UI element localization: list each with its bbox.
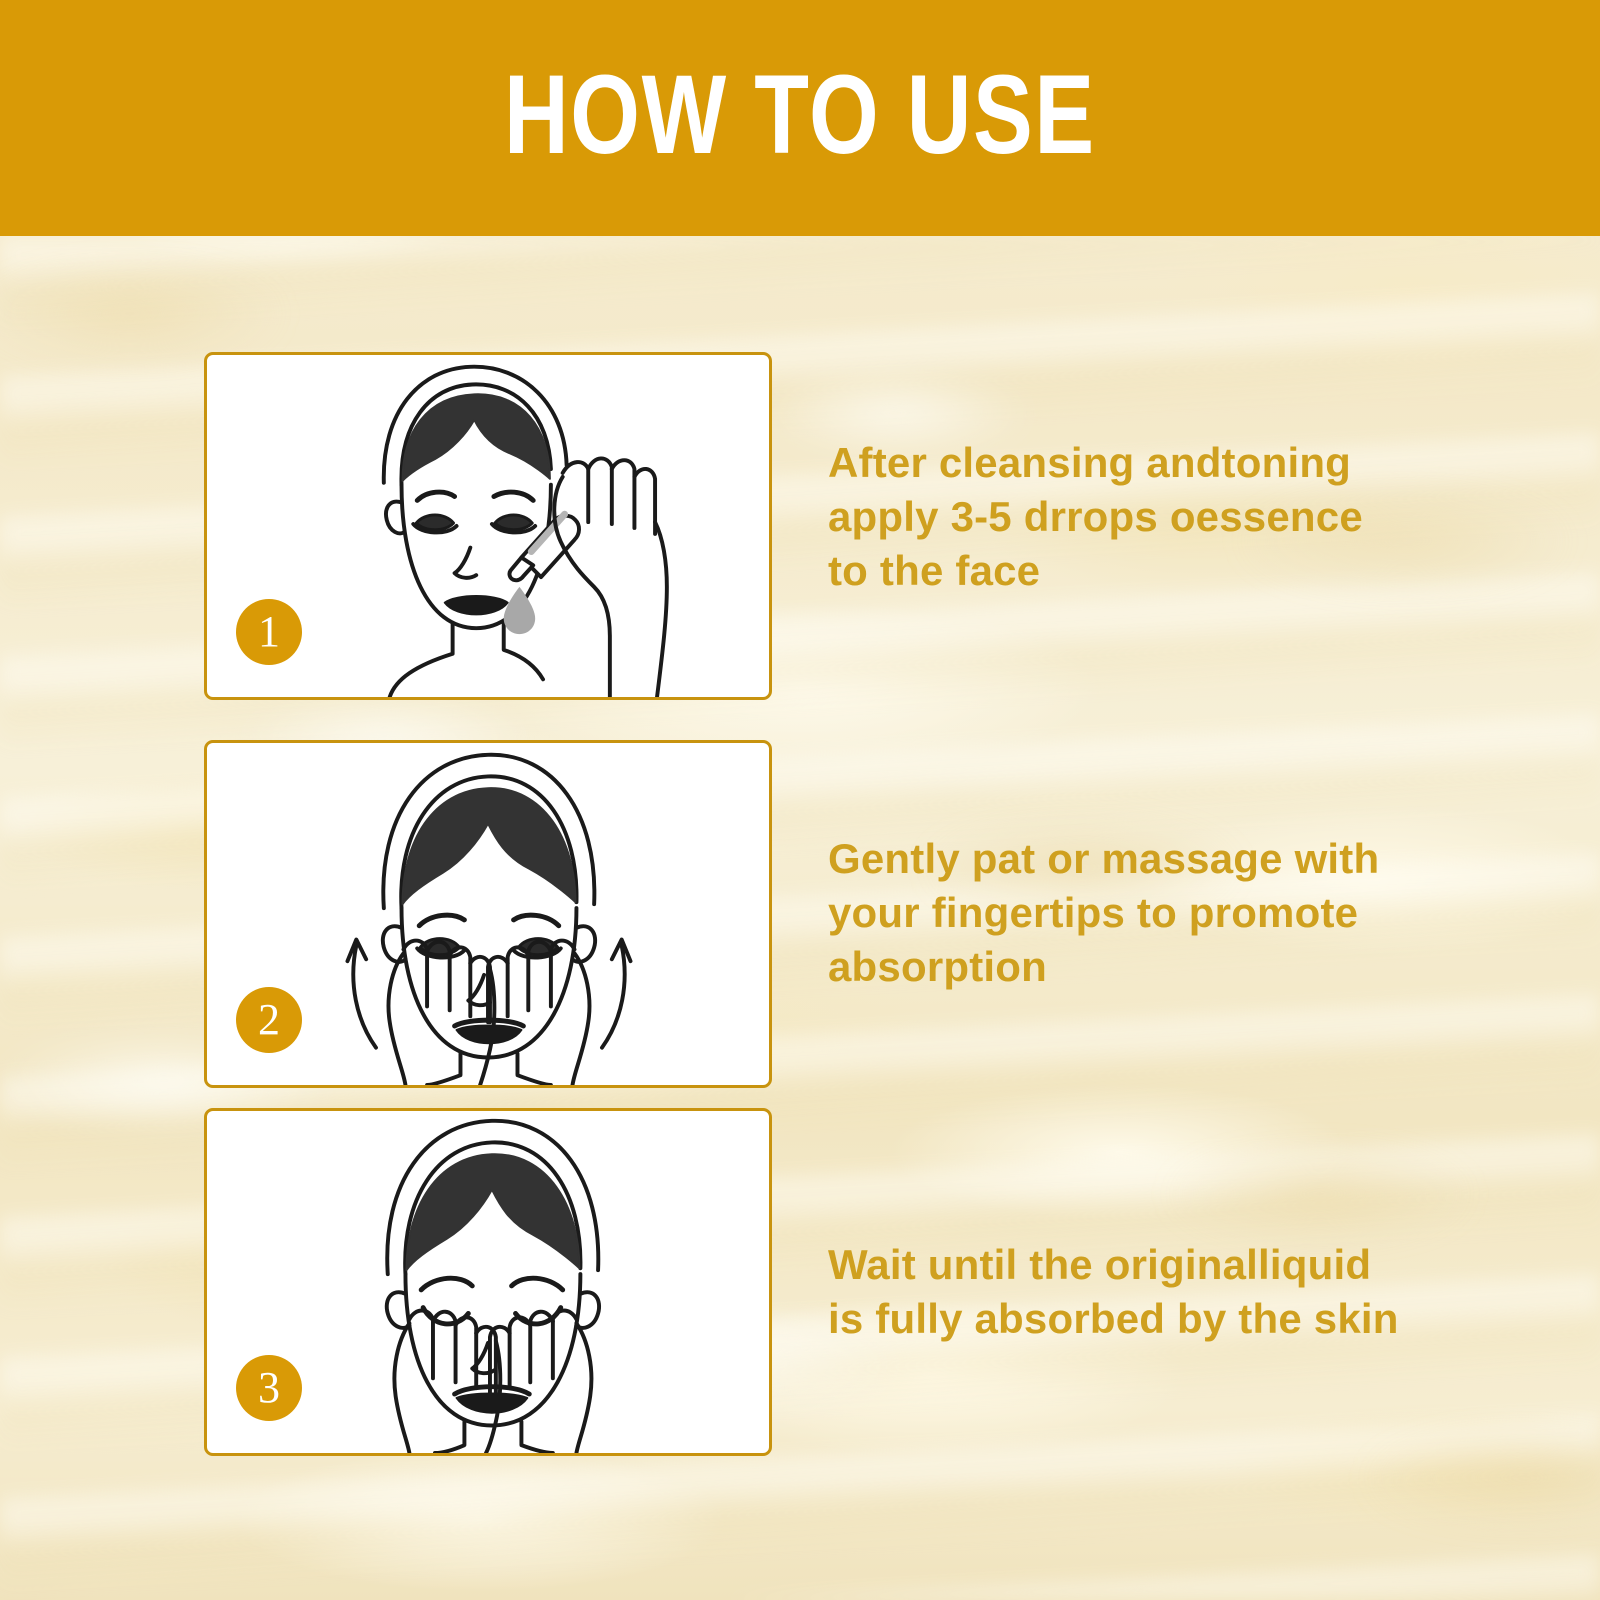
step-2-description: Gently pat or massage with your fingerti… bbox=[828, 832, 1379, 994]
step-row-3: 3 Wait until the originalliquid is fully… bbox=[0, 1108, 1600, 1456]
step-number-badge: 1 bbox=[236, 599, 302, 665]
step-row-1: 1 After cleansing andtoning apply 3-5 dr… bbox=[0, 352, 1600, 700]
header-banner: HOW TO USE bbox=[0, 0, 1600, 236]
step-number-badge: 2 bbox=[236, 987, 302, 1053]
step-number-badge: 3 bbox=[236, 1355, 302, 1421]
how-to-use-infographic: HOW TO USE bbox=[0, 0, 1600, 1600]
step-3-illustration-card: 3 bbox=[204, 1108, 772, 1456]
steps-container: 1 After cleansing andtoning apply 3-5 dr… bbox=[0, 236, 1600, 1600]
step-1-description: After cleansing andtoning apply 3-5 drro… bbox=[828, 436, 1363, 598]
step-1-illustration-card: 1 bbox=[204, 352, 772, 700]
step-row-2: 2 Gently pat or massage with your finger… bbox=[0, 740, 1600, 1088]
step-2-illustration-card: 2 bbox=[204, 740, 772, 1088]
step-3-description: Wait until the originalliquid is fully a… bbox=[828, 1238, 1399, 1346]
page-title: HOW TO USE bbox=[504, 59, 1096, 171]
